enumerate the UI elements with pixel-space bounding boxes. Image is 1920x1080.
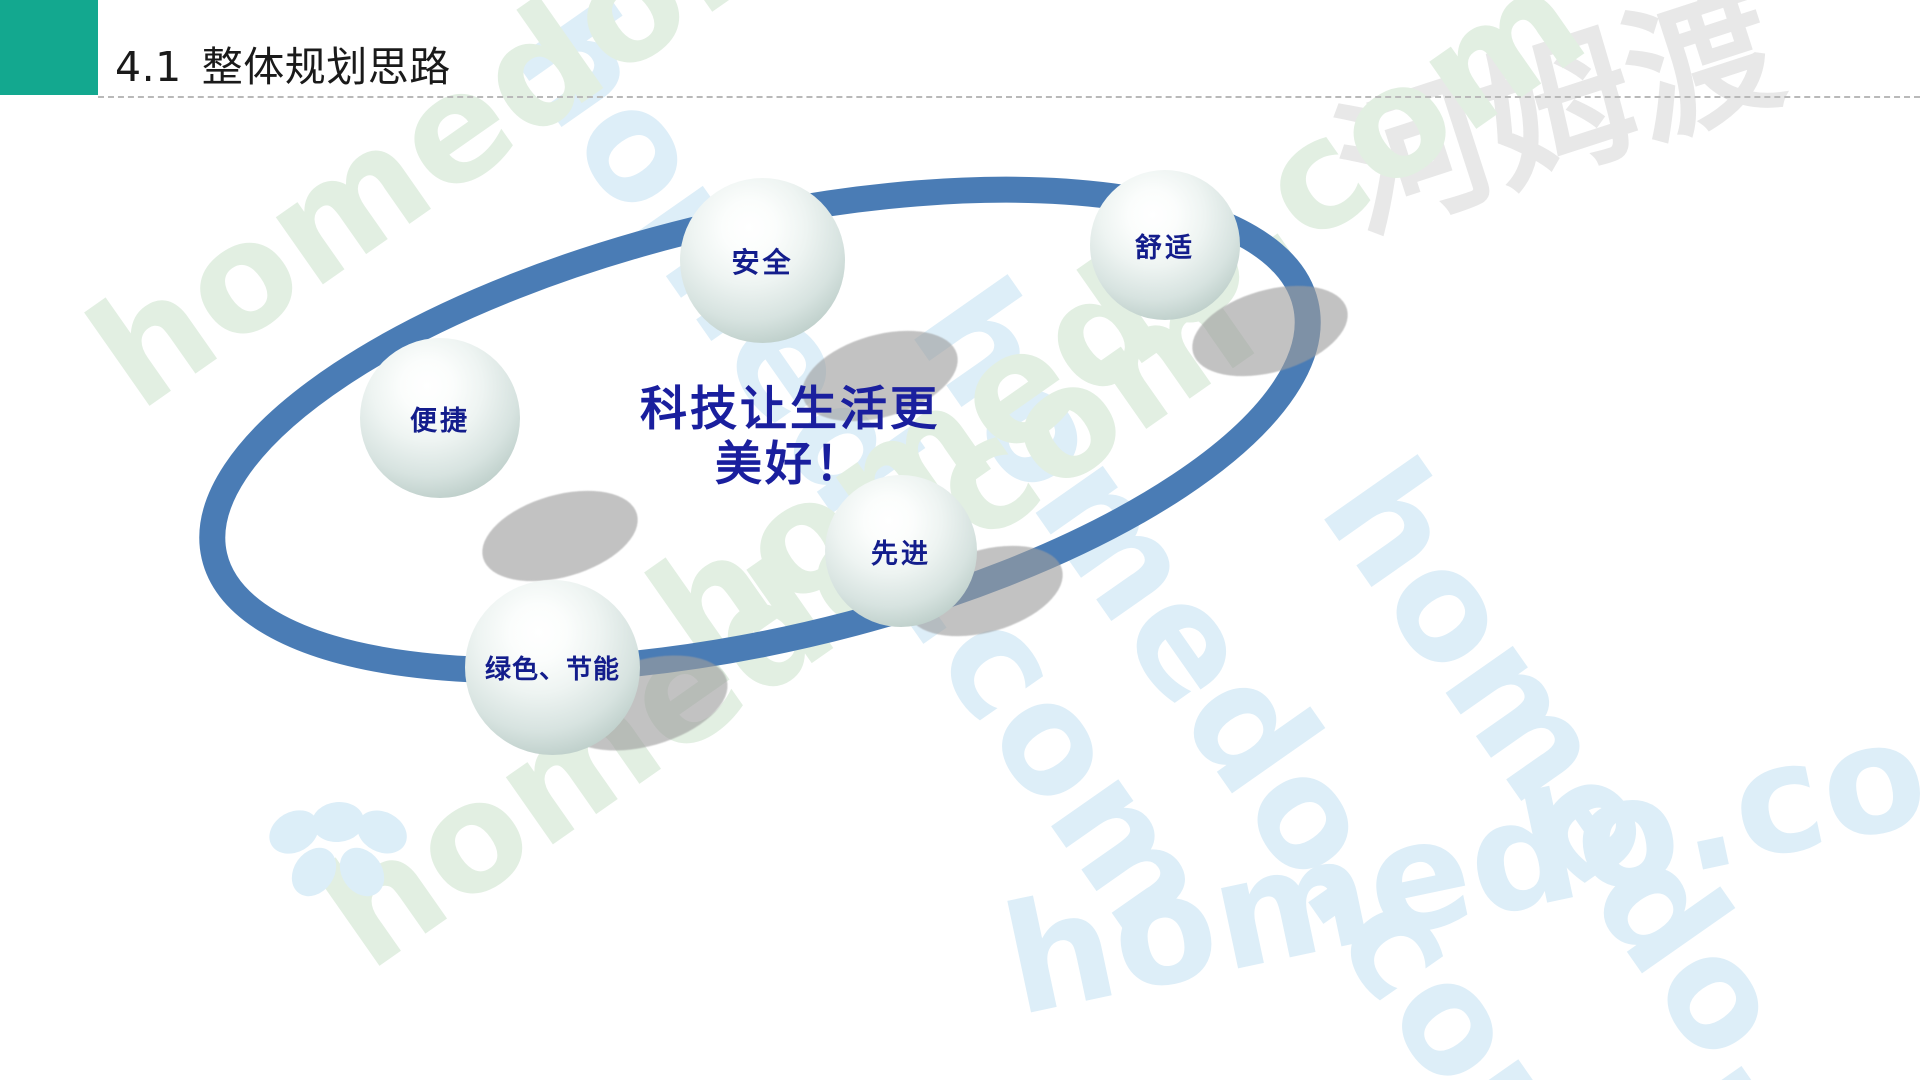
- page-title: 4.1整体规划思路: [115, 33, 451, 93]
- header-accent-bar: [0, 0, 98, 95]
- slide-canvas: 河姆渡 homedo.com homedo.com homedo.com hom…: [0, 0, 1920, 1080]
- sphere-safety[interactable]: 安全: [680, 178, 845, 343]
- header-divider: [98, 96, 1920, 98]
- sphere-comfort[interactable]: 舒适: [1090, 170, 1240, 320]
- sphere-label-comfort: 舒适: [1135, 226, 1195, 265]
- orbit-diagram: 安全 舒适 便捷 绿色、节能 先进 科技让生活更 美好！: [0, 100, 1920, 1080]
- section-title-text: 整体规划思路: [202, 43, 451, 91]
- sphere-green[interactable]: 绿色、节能: [465, 580, 640, 755]
- center-slogan: 科技让生活更 美好！: [590, 382, 990, 493]
- sphere-label-advanced: 先进: [871, 532, 931, 571]
- sphere-label-green: 绿色、节能: [485, 649, 620, 686]
- section-number: 4.1: [115, 43, 182, 91]
- sphere-advanced[interactable]: 先进: [825, 475, 977, 627]
- sphere-convenient[interactable]: 便捷: [360, 338, 520, 498]
- sphere-label-convenient: 便捷: [410, 399, 470, 438]
- sphere-label-safety: 安全: [731, 241, 793, 281]
